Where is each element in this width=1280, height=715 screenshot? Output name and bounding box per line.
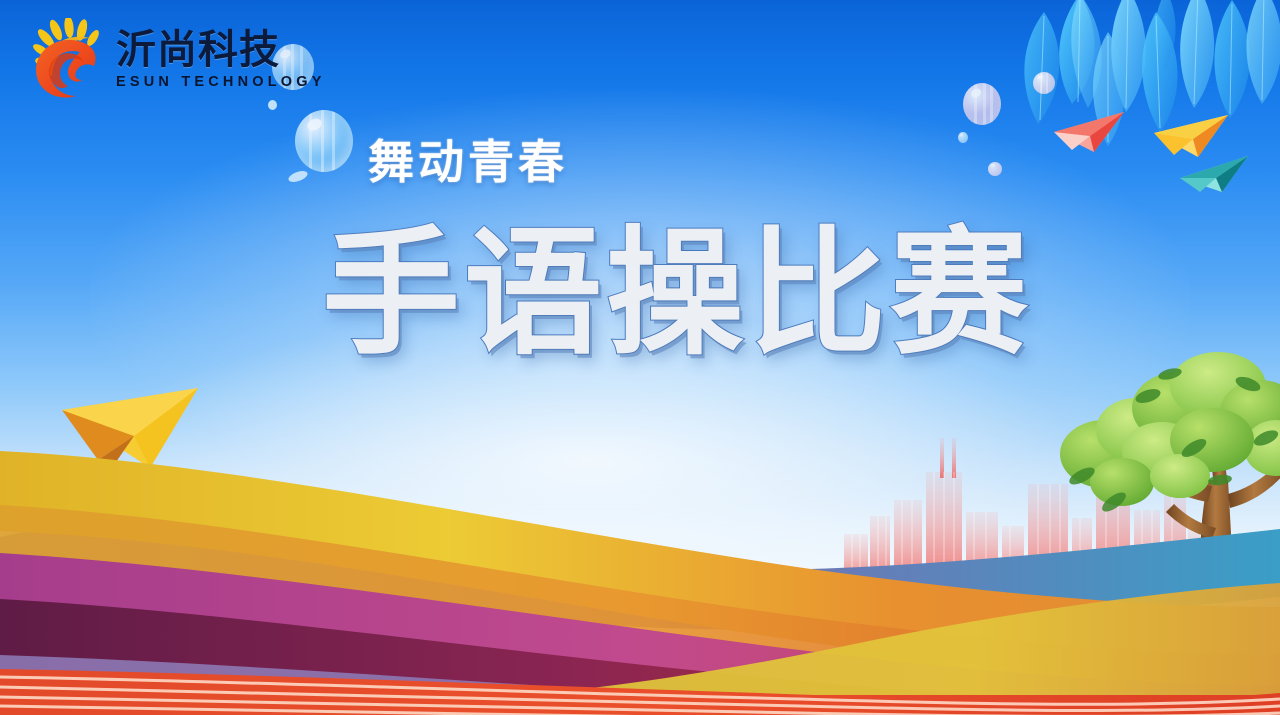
bubble-drop-small [287, 169, 309, 184]
event-poster: 沂尚科技 ESUN TECHNOLOGY 舞动青春 手语操比赛 [0, 0, 1280, 715]
poster-title: 手语操比赛 [322, 222, 1032, 367]
brand-name-en: ESUN TECHNOLOGY [116, 75, 326, 90]
brand-logo[interactable]: 沂尚科技 ESUN TECHNOLOGY [24, 18, 326, 102]
blue-leaves-cluster [960, 0, 1280, 196]
bubble-stripes [1033, 72, 1055, 94]
poster-subtitle: 舞动青春 [368, 126, 568, 192]
bubble-tiny-b [988, 162, 1002, 176]
bubble-stripes [295, 110, 353, 172]
bubble-tiny-a [958, 132, 968, 143]
brand-wordmark: 沂尚科技 ESUN TECHNOLOGY [116, 30, 326, 90]
paper-plane-red [1052, 110, 1128, 156]
bubble-pink-large [963, 83, 1001, 125]
paper-plane-teal [1178, 152, 1252, 196]
running-track [0, 355, 1280, 715]
sun-swirl-logo-icon [24, 18, 110, 102]
brand-name-cn: 沂尚科技 [116, 30, 326, 70]
bubble-pink-small [1033, 72, 1055, 94]
bubble-large-blue [295, 110, 353, 172]
bubble-stripes [963, 83, 1001, 125]
paper-plane-yellow [1152, 113, 1232, 161]
